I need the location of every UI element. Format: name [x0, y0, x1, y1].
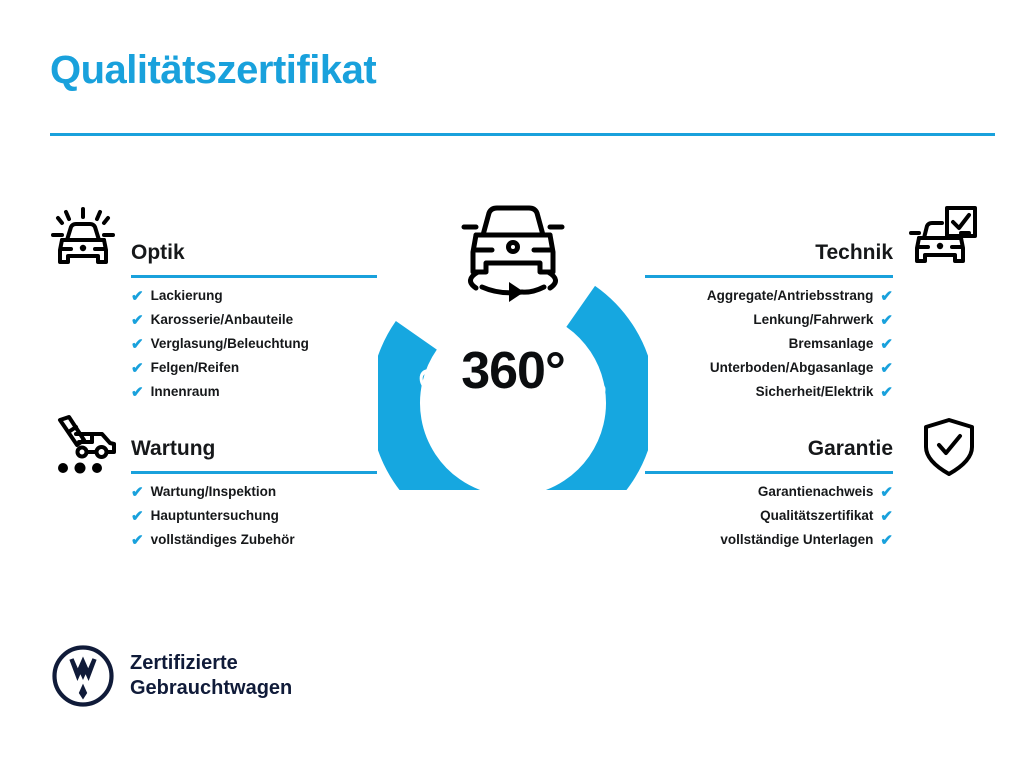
list-item-label: Felgen/Reifen [151, 356, 240, 380]
section-garantie: Garantie Garantienachweis✔ Qualitätszert… [645, 434, 893, 552]
section-technik-title: Technik [645, 238, 893, 268]
list-item-label: Garantienachweis [758, 480, 874, 504]
list-item: ✔Verglasung/Beleuchtung [131, 332, 377, 356]
section-garantie-title: Garantie [645, 434, 893, 464]
vw-logo-line1: Zertifizierte [130, 651, 292, 676]
section-garantie-header: Garantie [645, 434, 893, 480]
list-item-label: Lackierung [151, 284, 223, 308]
check-icon: ✔ [880, 337, 893, 352]
car-checkbox-icon [906, 206, 980, 272]
list-item-label: Aggregate/Antriebsstrang [707, 284, 874, 308]
list-item-label: vollständige Unterlagen [720, 528, 873, 552]
section-optik-title: Optik [131, 238, 377, 268]
list-item: ✔vollständiges Zubehör [131, 528, 377, 552]
check-icon: ✔ [880, 289, 893, 304]
check-icon: ✔ [131, 533, 144, 548]
car-service-pen-icon [46, 414, 120, 480]
badge-center-label: 360° [378, 345, 648, 397]
check-icon: ✔ [880, 509, 893, 524]
list-item-label: Qualitätszertifikat [760, 504, 873, 528]
section-wartung: Wartung ✔Wartung/Inspektion ✔Hauptunters… [131, 434, 377, 552]
list-item: ✔Innenraum [131, 380, 377, 404]
section-optik-list: ✔Lackierung ✔Karosserie/Anbauteile ✔Verg… [131, 284, 377, 404]
check-icon: ✔ [131, 485, 144, 500]
list-item: Sicherheit/Elektrik✔ [645, 380, 893, 404]
list-item-label: Lenkung/Fahrwerk [753, 308, 873, 332]
section-wartung-title: Wartung [131, 434, 377, 464]
section-wartung-divider [131, 471, 377, 474]
list-item: ✔Wartung/Inspektion [131, 480, 377, 504]
list-item: Qualitätszertifikat✔ [645, 504, 893, 528]
section-garantie-divider [645, 471, 893, 474]
car-shine-icon [46, 206, 120, 272]
check-icon: ✔ [131, 289, 144, 304]
list-item: Unterboden/Abgasanlage✔ [645, 356, 893, 380]
list-item: Bremsanlage✔ [645, 332, 893, 356]
check-icon: ✔ [131, 509, 144, 524]
section-technik: Technik Aggregate/Antriebsstrang✔ Lenkun… [645, 238, 893, 404]
car-front-rotate-icon [452, 190, 574, 302]
list-item: Lenkung/Fahrwerk✔ [645, 308, 893, 332]
check-icon: ✔ [131, 313, 144, 328]
section-optik-divider [131, 275, 377, 278]
section-technik-list: Aggregate/Antriebsstrang✔ Lenkung/Fahrwe… [645, 284, 893, 404]
check-icon: ✔ [131, 385, 144, 400]
list-item-label: Unterboden/Abgasanlage [710, 356, 874, 380]
check-icon: ✔ [880, 313, 893, 328]
list-item-label: Hauptuntersuchung [151, 504, 279, 528]
list-item: ✔Hauptuntersuchung [131, 504, 377, 528]
vw-logo-icon [52, 645, 114, 707]
section-optik: Optik ✔Lackierung ✔Karosserie/Anbauteile… [131, 238, 377, 404]
list-item-label: Sicherheit/Elektrik [756, 380, 874, 404]
check-icon: ✔ [131, 361, 144, 376]
gebrauchtwagen-check-badge: Gebrauchtwagen-Check 360° [378, 190, 648, 490]
check-icon: ✔ [131, 337, 144, 352]
list-item-label: Bremsanlage [789, 332, 874, 356]
page-title: Qualitätszertifikat [50, 50, 376, 90]
check-icon: ✔ [880, 385, 893, 400]
section-optik-header: Optik [131, 238, 377, 284]
section-technik-divider [645, 275, 893, 278]
list-item: ✔Felgen/Reifen [131, 356, 377, 380]
list-item: ✔Karosserie/Anbauteile [131, 308, 377, 332]
check-icon: ✔ [880, 361, 893, 376]
section-technik-header: Technik [645, 238, 893, 284]
title-divider [50, 133, 995, 136]
list-item-label: vollständiges Zubehör [151, 528, 295, 552]
list-item: ✔Lackierung [131, 284, 377, 308]
check-icon: ✔ [880, 485, 893, 500]
section-wartung-header: Wartung [131, 434, 377, 480]
list-item-label: Karosserie/Anbauteile [151, 308, 294, 332]
list-item-label: Innenraum [151, 380, 220, 404]
check-icon: ✔ [880, 533, 893, 548]
list-item: Garantienachweis✔ [645, 480, 893, 504]
shield-check-icon [912, 414, 986, 480]
list-item-label: Verglasung/Beleuchtung [151, 332, 309, 356]
list-item-label: Wartung/Inspektion [151, 480, 277, 504]
vw-logo-line2: Gebrauchtwagen [130, 676, 292, 701]
vw-certified-logo: Zertifizierte Gebrauchtwagen [52, 645, 292, 707]
vw-logo-text: Zertifizierte Gebrauchtwagen [130, 651, 292, 701]
list-item: vollständige Unterlagen✔ [645, 528, 893, 552]
section-garantie-list: Garantienachweis✔ Qualitätszertifikat✔ v… [645, 480, 893, 552]
list-item: Aggregate/Antriebsstrang✔ [645, 284, 893, 308]
section-wartung-list: ✔Wartung/Inspektion ✔Hauptuntersuchung ✔… [131, 480, 377, 552]
